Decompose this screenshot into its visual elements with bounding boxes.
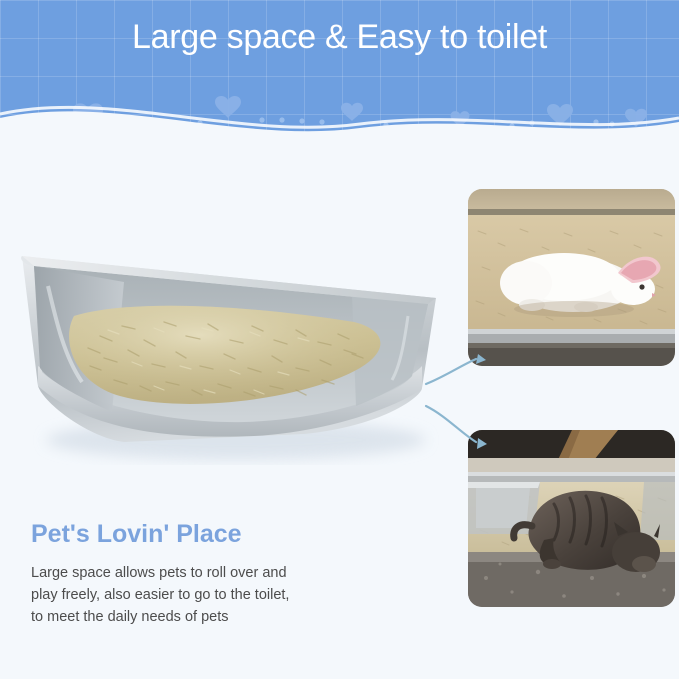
main-litter-box-photo (4, 190, 454, 465)
section-headline: Pet's Lovin' Place (31, 520, 242, 549)
section-description: Large space allows pets to roll over and… (31, 562, 441, 628)
banner-bottom-wave (0, 88, 679, 152)
banner-title: Large space & Easy to toilet (0, 18, 679, 57)
description-line-2: play freely, also easier to go to the to… (31, 584, 441, 606)
product-infographic: Pet's Lovin' Place Large space allows pe… (0, 0, 679, 679)
cat-in-litter-box-photo (468, 430, 675, 607)
connector-arrows (420, 340, 490, 460)
arrow-head-bottom (477, 438, 487, 449)
description-line-3: to meet the daily needs of pets (31, 606, 441, 628)
rabbit-in-litter-box-photo (468, 189, 675, 366)
arrow-head-top (476, 354, 486, 364)
description-line-1: Large space allows pets to roll over and (31, 562, 441, 584)
